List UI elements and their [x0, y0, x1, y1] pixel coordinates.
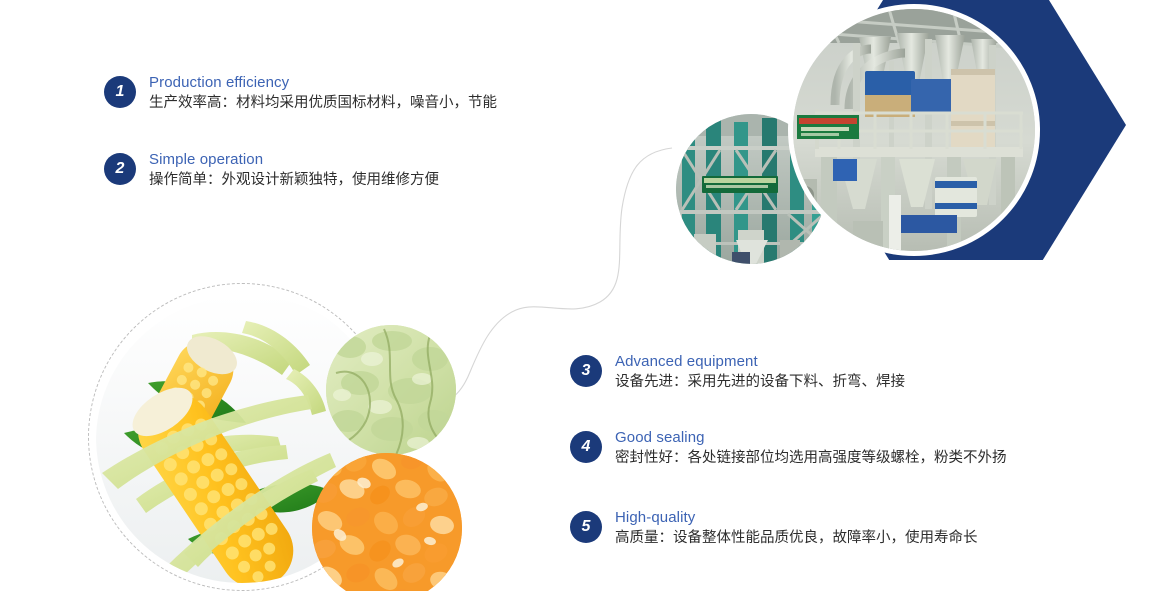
feature-description: 高质量：设备整体性能品质优良，故障率小，使用寿命长: [615, 528, 978, 549]
feature-item-5[interactable]: 5 High-quality 高质量：设备整体性能品质优良，故障率小，使用寿命长: [570, 508, 978, 549]
feature-text-block: Production efficiency 生产效率高：材料均采用优质国标材料，…: [149, 73, 497, 114]
feature-title: Simple operation: [149, 150, 439, 170]
feature-item-1[interactable]: 1 Production efficiency 生产效率高：材料均采用优质国标材…: [104, 73, 497, 114]
feature-item-4[interactable]: 4 Good sealing 密封性好：各处链接部位均选用高强度等级螺栓，粉类不…: [570, 428, 1007, 469]
feature-description: 密封性好：各处链接部位均选用高强度等级螺栓，粉类不外扬: [615, 448, 1007, 469]
corn-flour-paste-photo: [326, 325, 456, 455]
factory-photo-large: [788, 4, 1040, 256]
feature-number-badge: 2: [104, 153, 136, 185]
feature-description: 生产效率高：材料均采用优质国标材料，噪音小，节能: [149, 93, 497, 114]
feature-title: Production efficiency: [149, 73, 497, 93]
feature-text-block: High-quality 高质量：设备整体性能品质优良，故障率小，使用寿命长: [615, 508, 978, 549]
feature-number-badge: 1: [104, 76, 136, 108]
feature-description: 操作简单：外观设计新颖独特，使用维修方便: [149, 170, 439, 191]
feature-text-block: Advanced equipment 设备先进：采用先进的设备下料、折弯、焊接: [615, 352, 905, 393]
corn-grits-photo: [312, 453, 462, 591]
feature-item-2[interactable]: 2 Simple operation 操作简单：外观设计新颖独特，使用维修方便: [104, 150, 439, 191]
bottom-left-image-group: [88, 283, 488, 591]
feature-number-badge: 5: [570, 511, 602, 543]
feature-text-block: Simple operation 操作简单：外观设计新颖独特，使用维修方便: [149, 150, 439, 191]
top-right-image-group: [660, 0, 1154, 284]
feature-title: Good sealing: [615, 428, 1007, 448]
feature-text-block: Good sealing 密封性好：各处链接部位均选用高强度等级螺栓，粉类不外扬: [615, 428, 1007, 469]
feature-item-3[interactable]: 3 Advanced equipment 设备先进：采用先进的设备下料、折弯、焊…: [570, 352, 905, 393]
feature-showcase-page: 1 Production efficiency 生产效率高：材料均采用优质国标材…: [0, 0, 1154, 591]
feature-number-badge: 4: [570, 431, 602, 463]
feature-description: 设备先进：采用先进的设备下料、折弯、焊接: [615, 372, 905, 393]
feature-number-badge: 3: [570, 355, 602, 387]
feature-title: High-quality: [615, 508, 978, 528]
feature-title: Advanced equipment: [615, 352, 905, 372]
